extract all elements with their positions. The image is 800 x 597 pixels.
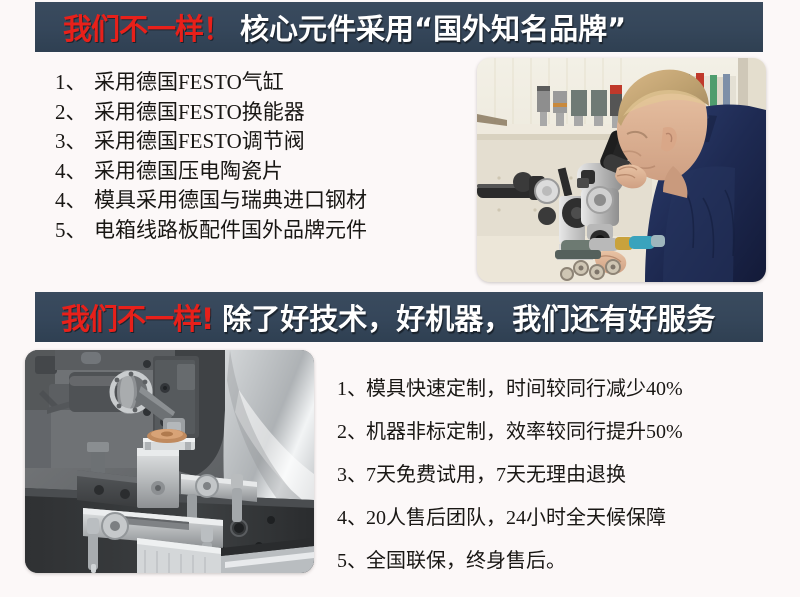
list-item-number: 1、 [55, 68, 94, 98]
list-item-text: 全国联保，终身售后。 [366, 540, 566, 583]
list-item: 5、 电箱线路板配件国外品牌元件 [55, 216, 367, 246]
list-item: 3、 7天免费试用，7天无理由退换 [337, 454, 683, 497]
list-item: 5、 全国联保，终身售后。 [337, 540, 683, 583]
list-item: 3、 采用德国FESTO调节阀 [55, 127, 367, 157]
banner-highlight-text: 我们不一样! [61, 296, 213, 338]
list-item-number: 3、 [337, 454, 366, 497]
banner-main-text: 除了好技术，好机器，我们还有好服务 [222, 296, 715, 338]
list-item-text: 模具快速定制，时间较同行减少40% [366, 368, 683, 411]
list-item-text: 模具采用德国与瑞典进口钢材 [94, 186, 367, 216]
banner-highlight-text: 我们不一样！ [63, 6, 231, 48]
list-item: 4、 模具采用德国与瑞典进口钢材 [55, 186, 367, 216]
list-item-text: 采用德国FESTO换能器 [94, 98, 305, 128]
list-item-text: 7天免费试用，7天无理由退换 [366, 454, 626, 497]
list-item-text: 采用德国压电陶瓷片 [94, 157, 283, 187]
microscope-inspection-photo [477, 58, 766, 282]
machine-photo-graphic [25, 350, 314, 573]
list-item-number: 4、 [337, 497, 366, 540]
list-item-text: 电箱线路板配件国外品牌元件 [94, 216, 367, 246]
list-item-text: 20人售后团队，24小时全天候保障 [366, 497, 666, 540]
list-item: 1、 模具快速定制，时间较同行减少40% [337, 368, 683, 411]
microscope-photo-graphic [477, 58, 766, 282]
banner-main-text: 核心元件采用“国外知名品牌” [240, 6, 626, 48]
list-item: 4、 20人售后团队，24小时全天候保障 [337, 497, 683, 540]
list-item-text: 采用德国FESTO气缸 [94, 68, 284, 98]
list-item-number: 5、 [337, 540, 366, 583]
machine-tooling-photo [25, 350, 314, 573]
list-item: 4、 采用德国压电陶瓷片 [55, 157, 367, 187]
list-item-number: 2、 [55, 98, 94, 128]
list-item-number: 5、 [55, 216, 94, 246]
list-item-number: 4、 [55, 186, 94, 216]
list-item: 2、 机器非标定制，效率较同行提升50% [337, 411, 683, 454]
list-item-text: 采用德国FESTO调节阀 [94, 127, 305, 157]
list-item: 1、 采用德国FESTO气缸 [55, 68, 367, 98]
banner-text-group: 我们不一样! 除了好技术，好机器，我们还有好服务 [35, 296, 715, 338]
section-1-banner: 我们不一样！ 核心元件采用“国外知名品牌” [35, 2, 763, 52]
list-item-number: 1、 [337, 368, 366, 411]
section-1-feature-list: 1、 采用德国FESTO气缸 2、 采用德国FESTO换能器 3、 采用德国FE… [55, 68, 367, 245]
list-item-number: 3、 [55, 127, 94, 157]
list-item-text: 机器非标定制，效率较同行提升50% [366, 411, 683, 454]
list-item-number: 2、 [337, 411, 366, 454]
banner-text-group: 我们不一样！ 核心元件采用“国外知名品牌” [35, 6, 626, 48]
section-2-banner: 我们不一样! 除了好技术，好机器，我们还有好服务 [35, 292, 763, 342]
list-item-number: 4、 [55, 157, 94, 187]
list-item: 2、 采用德国FESTO换能器 [55, 98, 367, 128]
section-2-feature-list: 1、 模具快速定制，时间较同行减少40% 2、 机器非标定制，效率较同行提升50… [337, 368, 683, 583]
